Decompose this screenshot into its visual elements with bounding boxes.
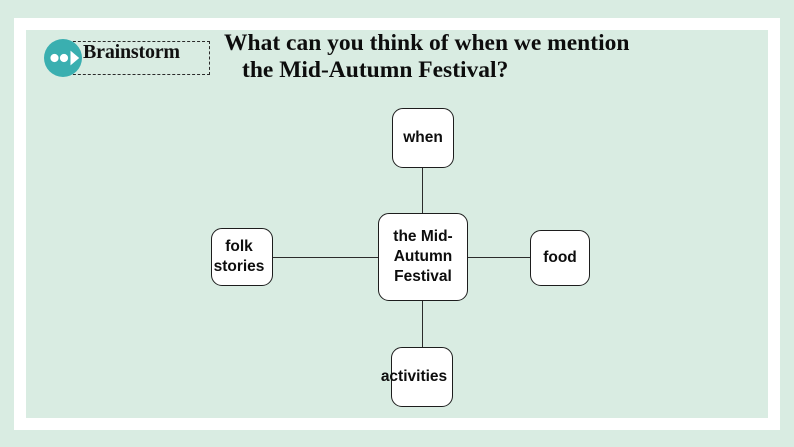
mind-map-node-activities-label: activities — [376, 367, 452, 387]
mind-map-node-activities[interactable]: activities — [391, 347, 453, 407]
slide-content-panel: Brainstorm What can you think of when we… — [26, 30, 768, 418]
mind-map-node-food-label: food — [543, 248, 577, 268]
mind-map-node-food[interactable]: food — [530, 230, 590, 286]
mind-map-node-folk-stories[interactable]: folk stories — [211, 228, 273, 286]
mind-map-node-center[interactable]: the Mid- Autumn Festival — [378, 213, 468, 301]
mind-map-node-when-label: when — [403, 128, 443, 148]
connector-center-to-food — [463, 257, 535, 258]
mind-map-diagram: when the Mid- Autumn Festival folk stori… — [26, 30, 768, 418]
mind-map-node-center-label: the Mid- Autumn Festival — [379, 227, 467, 287]
slide-canvas: Brainstorm What can you think of when we… — [0, 0, 794, 447]
connector-center-to-folk — [266, 257, 384, 258]
mind-map-node-folk-stories-label: folk stories — [206, 237, 272, 277]
mind-map-node-when[interactable]: when — [392, 108, 454, 168]
connector-center-to-when — [422, 162, 423, 218]
connector-center-to-activities — [422, 296, 423, 352]
